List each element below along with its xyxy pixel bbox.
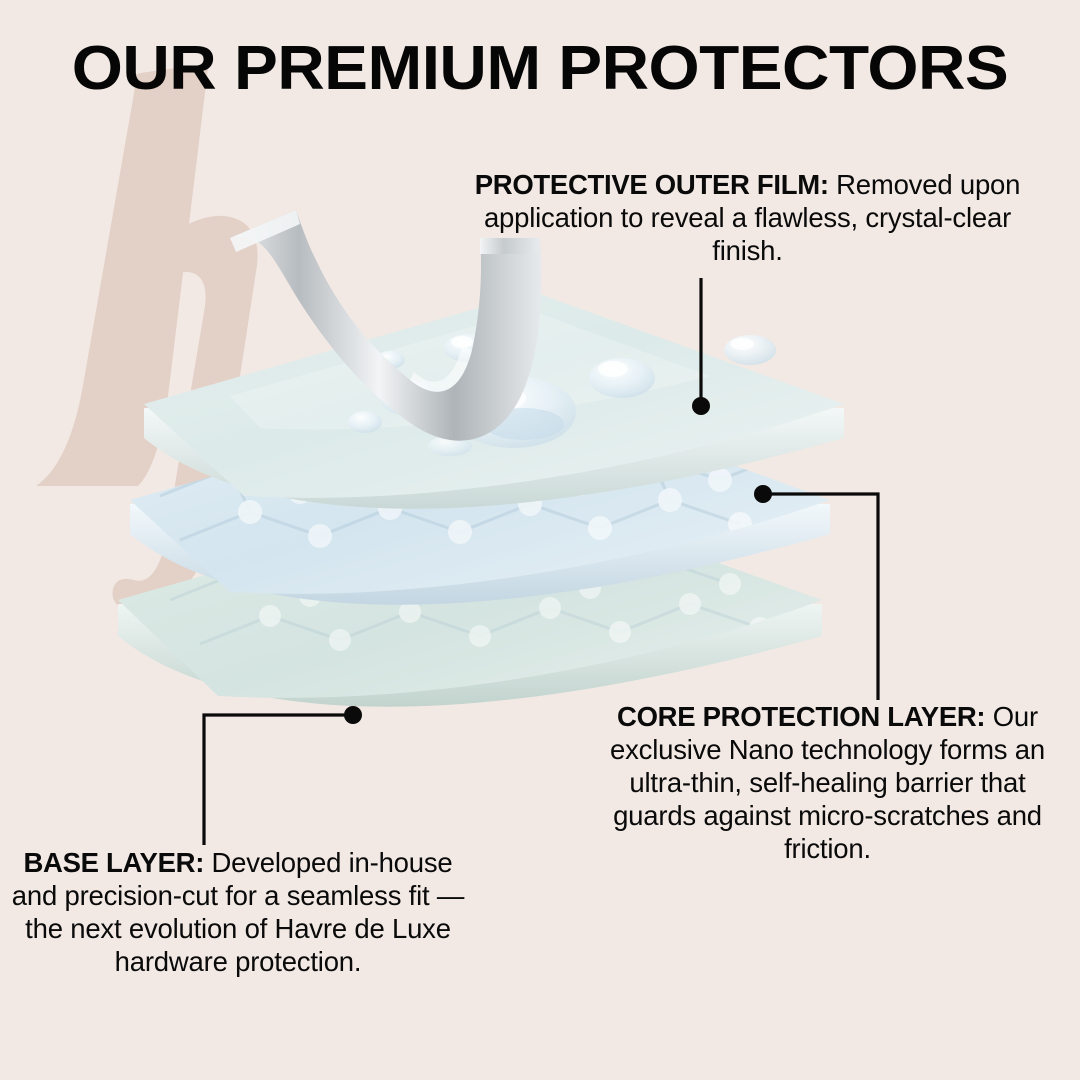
callout-core-protection-layer: CORE PROTECTION LAYER: Our exclusive Nan… [600, 700, 1055, 865]
callout-outer-film-lead: PROTECTIVE OUTER FILM: [475, 169, 829, 200]
infographic-canvas: OUR PREMIUM PROTECTORS [0, 0, 1080, 1080]
callout-base-layer-lead: BASE LAYER: [23, 847, 204, 878]
callout-protective-outer-film: PROTECTIVE OUTER FILM: Removed upon appl… [460, 168, 1035, 267]
callout-core-layer-lead: CORE PROTECTION LAYER: [617, 701, 985, 732]
callout-base-layer: BASE LAYER: Developed in-house and preci… [8, 846, 468, 978]
page-title: OUR PREMIUM PROTECTORS [0, 38, 1080, 100]
